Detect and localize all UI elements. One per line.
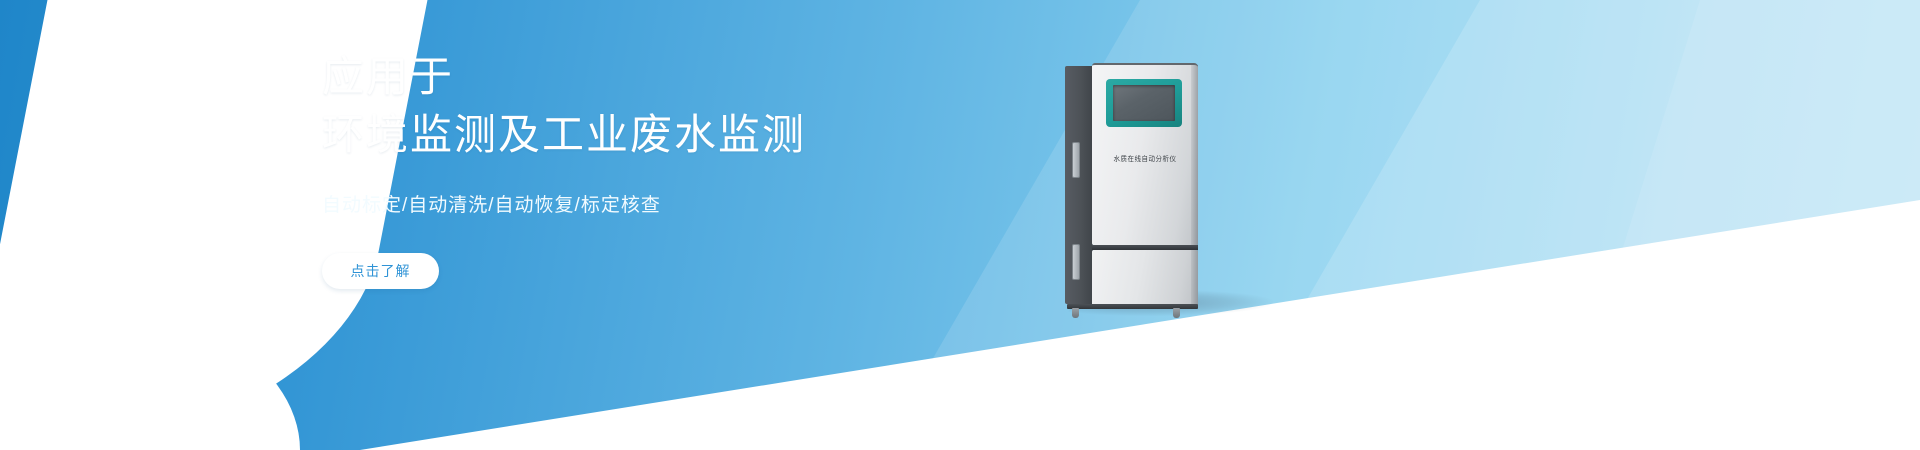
hero-subtitle: 自动标定/自动清洗/自动恢复/标定核查 (322, 190, 1082, 217)
product-display-screen (1113, 85, 1175, 121)
hero-title-line-2: 环境监测及工业废水监测 (322, 106, 1082, 164)
product-name-label: 水质在线自动分析仪 (1092, 153, 1198, 164)
hero-title-line-1: 应用于 (322, 48, 1082, 106)
product-image-water-quality-analyzer: 水质在线自动分析仪 (1055, 58, 1315, 328)
learn-more-button[interactable]: 点击了解 (322, 253, 439, 289)
background-diagonal-panel-3 (1560, 0, 1920, 450)
product-caster-right (1173, 308, 1180, 318)
background-white-curve-bottom-left (0, 280, 300, 450)
hero-content: 应用于 环境监测及工业废水监测 自动标定/自动清洗/自动恢复/标定核查 点击了解 (322, 48, 1082, 289)
product-caster-left (1072, 308, 1079, 318)
product-lower-cabinet (1092, 250, 1198, 306)
product-upper-cabinet: 水质在线自动分析仪 (1092, 63, 1198, 245)
product-screen-bezel (1106, 79, 1182, 127)
background-white-slab-bottom-right (1500, 330, 1920, 450)
hero-banner: 应用于 环境监测及工业废水监测 自动标定/自动清洗/自动恢复/标定核查 点击了解… (0, 0, 1920, 450)
